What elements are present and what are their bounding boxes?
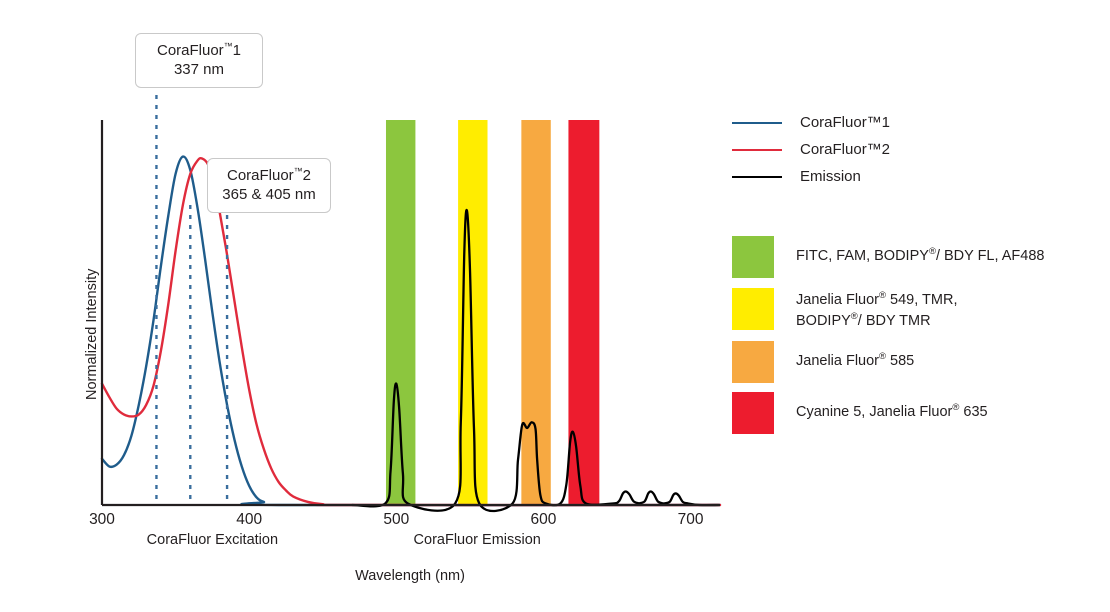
dye-label-line: Janelia Fluor® 549, TMR,: [796, 290, 957, 311]
x-axis-section-emission: CoraFluor Emission: [367, 532, 587, 548]
spectra-chart: CoraFluor™1 337 nm CoraFluor™2 365 & 405…: [0, 0, 730, 612]
callout-cf2-suffix: 2: [303, 167, 311, 184]
legend-item-2[interactable]: CoraFluor™2: [732, 141, 890, 158]
dye-label-line: Cyanine 5, Janelia Fluor® 635: [796, 402, 988, 423]
registered-icon: ®: [851, 311, 858, 322]
dye-item-2[interactable]: Janelia Fluor® 549, TMR,BODIPY®/ BDY TMR: [732, 288, 957, 331]
dye-label-line: Janelia Fluor® 585: [796, 351, 914, 372]
callout-cf1-suffix: 1: [233, 42, 241, 59]
x-axis-section-excitation: CoraFluor Excitation: [102, 532, 322, 548]
dye-label: Janelia Fluor® 585: [796, 341, 914, 372]
trademark-icon: ™: [224, 41, 233, 51]
legend-line-swatch: [732, 122, 782, 124]
callout-cf2-value: 365 & 405 nm: [220, 185, 318, 204]
dye-item-1[interactable]: FITC, FAM, BODIPY®/ BDY FL, AF488: [732, 236, 1044, 278]
x-tick-500: 500: [366, 511, 426, 529]
dye-item-4[interactable]: Cyanine 5, Janelia Fluor® 635: [732, 392, 988, 434]
dye-label: Cyanine 5, Janelia Fluor® 635: [796, 392, 988, 423]
dye-item-3[interactable]: Janelia Fluor® 585: [732, 341, 914, 383]
callout-cf1-name: CoraFluor: [157, 42, 224, 59]
dye-label: FITC, FAM, BODIPY®/ BDY FL, AF488: [796, 236, 1044, 267]
dye-color-swatch: [732, 341, 774, 383]
x-tick-400: 400: [219, 511, 279, 529]
x-tick-600: 600: [513, 511, 573, 529]
legend-label: CoraFluor™2: [800, 141, 890, 158]
legend-item-1[interactable]: CoraFluor™1: [732, 114, 890, 131]
x-axis-title: Wavelength (nm): [300, 568, 520, 584]
dye-color-swatch: [732, 392, 774, 434]
callout-cf1-value: 337 nm: [148, 60, 250, 79]
callout-corafluor1: CoraFluor™1 337 nm: [135, 33, 263, 88]
dye-label: Janelia Fluor® 549, TMR,BODIPY®/ BDY TMR: [796, 288, 957, 331]
callout-corafluor2: CoraFluor™2 365 & 405 nm: [207, 158, 331, 213]
registered-icon: ®: [952, 402, 959, 413]
dye-color-swatch: [732, 236, 774, 278]
legend-label: CoraFluor™1: [800, 114, 890, 131]
legend-item-3[interactable]: Emission: [732, 168, 861, 185]
legend-panel: Compatible Dyes CoraFluor™1CoraFluor™2Em…: [728, 0, 1110, 612]
trademark-icon: ™: [294, 166, 303, 176]
dye-label-line: BODIPY®/ BDY TMR: [796, 311, 957, 332]
legend-label: Emission: [800, 168, 861, 185]
red-band: [568, 120, 599, 505]
dye-color-swatch: [732, 288, 774, 330]
registered-icon: ®: [929, 246, 936, 257]
x-tick-700: 700: [661, 511, 721, 529]
registered-icon: ®: [879, 351, 886, 362]
dye-label-line: FITC, FAM, BODIPY®/ BDY FL, AF488: [796, 246, 1044, 267]
legend-line-swatch: [732, 149, 782, 151]
y-axis-title: Normalized Intensity: [84, 269, 100, 400]
callout-cf2-name: CoraFluor: [227, 167, 294, 184]
legend-line-swatch: [732, 176, 782, 178]
registered-icon: ®: [879, 290, 886, 301]
x-tick-300: 300: [72, 511, 132, 529]
